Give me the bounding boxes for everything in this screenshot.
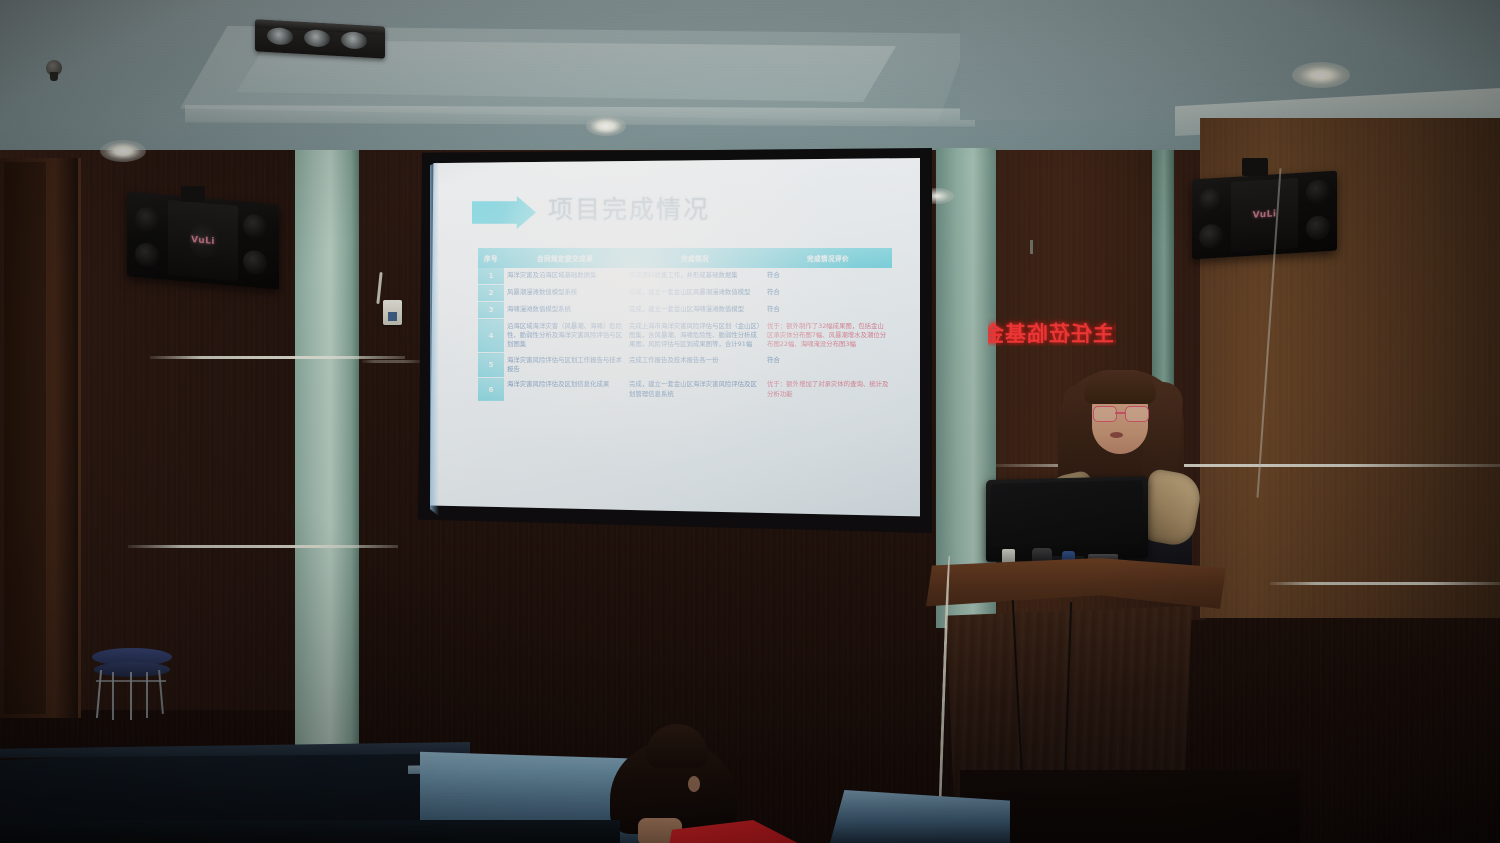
cell-evaluation: 符合 bbox=[764, 268, 892, 285]
cell-status: 完成上海市海洋灾害风险评估与区划（金山区）图集，含风暴潮、海啸危险性、脆弱性分析… bbox=[626, 319, 764, 353]
cell-no: 3 bbox=[478, 302, 504, 319]
slide-table: 序号 合同规定提交成果 完成情况 完成情况评价 1 海洋灾害及沿海区域基础数据集… bbox=[478, 248, 892, 402]
monitor-display bbox=[991, 480, 1143, 547]
table-row: 6 海洋灾害风险评估及区划信息化成果 完成，建立一套金山区海洋灾害风险评估及区划… bbox=[478, 377, 892, 402]
cell-evaluation: 符合 bbox=[764, 285, 892, 302]
cell-status: 完成，建立一套金山区海啸漫滩数值模型 bbox=[626, 302, 764, 319]
cell-status: 完成，建立一套金山区风暴潮漫滩数值模型 bbox=[626, 285, 764, 302]
column-header-evaluation: 完成情况评价 bbox=[764, 248, 892, 268]
stool-leg bbox=[96, 670, 102, 718]
column-header-no: 序号 bbox=[478, 248, 504, 268]
table-row: 3 海啸漫滩数值模型系统 完成，建立一套金山区海啸漫滩数值模型 符合 bbox=[478, 302, 892, 319]
door-frame-left[interactable] bbox=[0, 158, 81, 718]
ceiling-downlight bbox=[1292, 62, 1350, 88]
wall-speaker-left: VuLi bbox=[127, 191, 279, 289]
cell-evaluation: 优于：额外增加了对承灾体的查询、统计及分析功能 bbox=[764, 377, 892, 402]
speaker-brand-label: VuLi bbox=[191, 234, 215, 246]
column-header-status: 完成情况 bbox=[626, 248, 764, 268]
speaker-woofer bbox=[1306, 179, 1330, 204]
cell-evaluation: 符合 bbox=[764, 302, 892, 319]
cell-status: 完成资料收集工作，并形成基础数据集 bbox=[626, 268, 764, 285]
table-header-row: 序号 合同规定提交成果 完成情况 完成情况评价 bbox=[478, 248, 892, 268]
speaker-mount-bracket bbox=[181, 186, 205, 202]
glasses-lens-right bbox=[1125, 406, 1149, 422]
cell-no: 2 bbox=[478, 285, 504, 302]
table-row: 5 海洋灾害风险评估与区划工作报告与技术报告 完成工作报告及技术报告各一份 符合 bbox=[478, 353, 892, 378]
chevron-arrow-icon bbox=[472, 196, 536, 229]
audience-ear bbox=[688, 776, 700, 792]
cell-evaluation: 优于：额外制作了32幅成果图，包括金山区承灾体分布图7幅、风暴潮增水及潮位分布图… bbox=[764, 319, 892, 353]
projection-screen: 项目完成情况 序号 合同规定提交成果 完成情况 完成情况评价 1 海洋灾害及沿海… bbox=[430, 158, 920, 520]
track-light-lamp bbox=[304, 29, 330, 47]
wall-trim-strip bbox=[1270, 582, 1500, 585]
stool-leg bbox=[158, 670, 164, 714]
cell-no: 6 bbox=[478, 377, 504, 402]
ceiling-step bbox=[185, 105, 975, 135]
speaker-woofer bbox=[1199, 224, 1223, 249]
stool-leg bbox=[146, 672, 148, 718]
table-row: 1 海洋灾害及沿海区域基础数据集 完成资料收集工作，并形成基础数据集 符合 bbox=[478, 268, 892, 285]
cell-no: 1 bbox=[478, 268, 504, 285]
stool-rail bbox=[96, 680, 166, 682]
speaker-woofer bbox=[1199, 188, 1223, 213]
speaker-brand-label: VuLi bbox=[1253, 209, 1277, 220]
speaker-woofer bbox=[135, 206, 161, 234]
ceiling-downlight bbox=[100, 140, 146, 162]
speaker-mount-bracket bbox=[1242, 158, 1268, 176]
led-scrolling-sign: 热烈欢迎室主任莅临基金 bbox=[988, 318, 1116, 346]
speaker-woofer bbox=[243, 213, 267, 239]
table-row: 4 沿海区域海洋灾害（风暴潮、海啸）危险性、脆弱性分析及海洋灾害风险评估与区划图… bbox=[478, 319, 892, 353]
wall-trim-strip bbox=[362, 360, 422, 363]
wall-trim-strip bbox=[150, 356, 405, 359]
cell-status: 完成，建立一套金山区海洋灾害风险评估及区划管理信息系统 bbox=[626, 377, 764, 402]
speaker-woofer bbox=[243, 249, 267, 275]
wall-speaker-right: VuLi bbox=[1192, 171, 1337, 260]
stacked-blue-stools bbox=[88, 648, 176, 718]
presenter-glasses-icon bbox=[1092, 406, 1148, 420]
sprinkler-head-icon bbox=[46, 60, 62, 76]
cell-status: 完成工作报告及技术报告各一份 bbox=[626, 353, 764, 378]
table-row: 2 风暴潮漫滩数值模型系统 完成，建立一套金山区风暴潮漫滩数值模型 符合 bbox=[478, 285, 892, 302]
door-panel bbox=[4, 162, 47, 714]
cell-deliverable: 海啸漫滩数值模型系统 bbox=[504, 302, 626, 319]
cell-deliverable: 海洋灾害风险评估及区划信息化成果 bbox=[504, 377, 626, 402]
presentation-slide: 项目完成情况 序号 合同规定提交成果 完成情况 完成情况评价 1 海洋灾害及沿海… bbox=[430, 158, 920, 520]
glasses-lens-left bbox=[1093, 406, 1117, 422]
presenter-mouth bbox=[1110, 432, 1123, 438]
glasses-bridge bbox=[1115, 412, 1125, 414]
conference-room-photo: 热烈欢迎室主任莅临基金 VuLi VuLi 项目完成情况 bbox=[0, 0, 1500, 843]
audience-member-foreground bbox=[600, 742, 770, 843]
screen-left-edge-glow bbox=[430, 158, 439, 520]
cell-deliverable: 风暴潮漫滩数值模型系统 bbox=[504, 285, 626, 302]
speaker-woofer bbox=[1306, 215, 1330, 240]
slide-title: 项目完成情况 bbox=[548, 190, 710, 226]
cell-no: 4 bbox=[478, 319, 504, 353]
foreground-dark-area-right bbox=[960, 770, 1300, 843]
wall-trim-strip bbox=[128, 545, 398, 548]
column-header-deliverable: 合同规定提交成果 bbox=[504, 248, 626, 268]
wall-intercom-panel[interactable] bbox=[383, 300, 402, 325]
presenter-hair-fringe bbox=[1084, 370, 1156, 404]
cell-deliverable: 海洋灾害及沿海区域基础数据集 bbox=[504, 268, 626, 285]
cell-evaluation: 符合 bbox=[764, 353, 892, 378]
track-light-lamp bbox=[341, 31, 367, 49]
cell-deliverable: 沿海区域海洋灾害（风暴潮、海啸）危险性、脆弱性分析及海洋灾害风险评估与区划图集 bbox=[504, 319, 626, 353]
led-sign-text: 热烈欢迎室主任莅临基金 bbox=[988, 318, 1116, 346]
cell-no: 5 bbox=[478, 353, 504, 378]
track-light-lamp bbox=[267, 27, 293, 45]
foreground-table-shadow bbox=[0, 820, 620, 843]
speaker-woofer bbox=[135, 242, 159, 268]
ceiling-downlight bbox=[586, 116, 626, 136]
cell-deliverable: 海洋灾害风险评估与区划工作报告与技术报告 bbox=[504, 353, 626, 378]
glass-tick-mark bbox=[1030, 240, 1033, 254]
mint-green-column-left bbox=[295, 150, 359, 750]
